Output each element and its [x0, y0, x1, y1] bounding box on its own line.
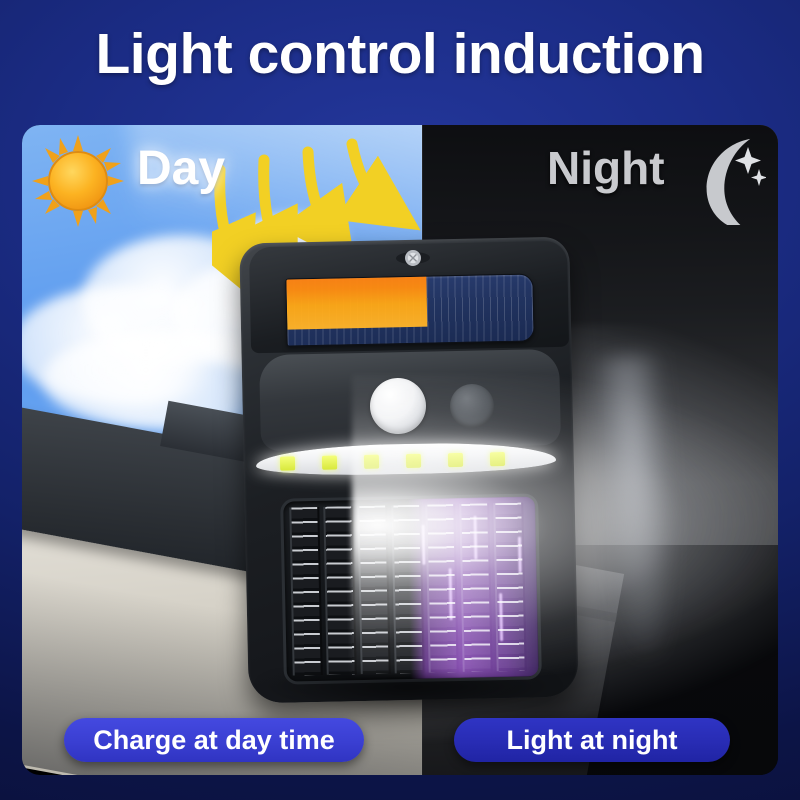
- solar-charging-indicator: [286, 273, 427, 329]
- device-drop-shadow: [258, 676, 558, 710]
- night-label: Night: [547, 145, 665, 191]
- led-chip: [364, 455, 379, 469]
- grille-column: [323, 506, 357, 675]
- led-chip: [322, 455, 337, 469]
- solar-wall-light-device[interactable]: [244, 240, 574, 700]
- product-banner: Light control induction: [0, 0, 800, 800]
- sun-icon: [30, 133, 126, 229]
- page-title: Light control induction: [0, 26, 800, 83]
- grille-column: [357, 505, 391, 674]
- light-at-night-button[interactable]: Light at night: [454, 718, 730, 762]
- day-label: Day: [137, 145, 225, 193]
- solar-panel: [285, 273, 534, 346]
- charge-at-day-time-button[interactable]: Charge at day time: [64, 718, 364, 762]
- led-chip: [490, 452, 505, 466]
- product-photo-panel: Day Night Charge at day time Light at ni…: [22, 125, 778, 775]
- led-chip: [406, 454, 421, 468]
- uv-glow-overlay: [407, 496, 539, 679]
- led-light-strip: [256, 435, 557, 485]
- led-chip: [448, 453, 463, 467]
- mounting-screw-icon: [396, 248, 430, 269]
- grille-column: [289, 507, 323, 676]
- led-chip: [280, 456, 295, 470]
- moon-icon: [674, 133, 766, 225]
- uv-mosquito-grille: [280, 493, 542, 684]
